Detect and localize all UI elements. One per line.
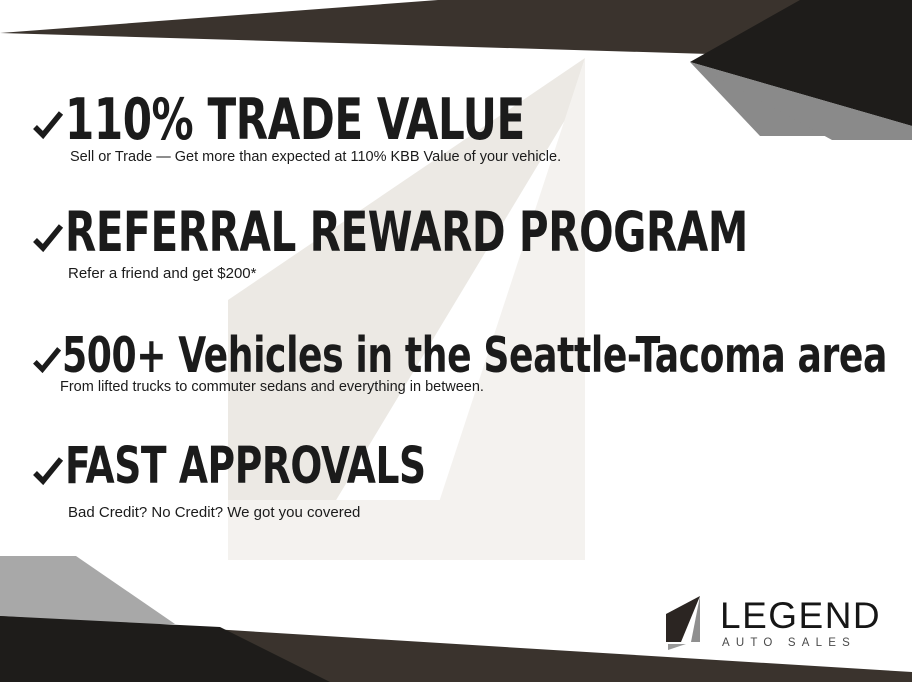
feature-headline-row: REFERRAL REWARD PROGRAM — [0, 207, 912, 258]
feature-headline: 500+ Vehicles in the Seattle-Tacoma area — [62, 333, 887, 378]
feature-headline-row: FAST APPROVALS — [0, 444, 912, 491]
legend-chevron-mark-icon — [664, 594, 710, 650]
logo-name: LEGEND — [720, 597, 881, 634]
check-icon — [33, 223, 63, 253]
feature-subline: Refer a friend and get $200* — [68, 266, 912, 283]
feature-headline-row: 500+ Vehicles in the Seattle-Tacoma area — [0, 333, 912, 378]
feature-headline-row: 110% TRADE VALUE — [0, 94, 912, 146]
check-icon — [33, 110, 63, 140]
feature-item: FAST APPROVALS Bad Credit? No Credit? We… — [0, 444, 912, 521]
logo-tagline: AUTO SALES — [722, 638, 881, 650]
feature-subline: Bad Credit? No Credit? We got you covere… — [68, 505, 912, 522]
logo-wordmark: LEGEND AUTO SALES — [720, 594, 881, 650]
feature-item: 110% TRADE VALUE Sell or Trade — Get mor… — [0, 94, 912, 166]
legend-auto-sales-logo: LEGEND AUTO SALES — [664, 594, 881, 650]
feature-headline: 110% TRADE VALUE — [65, 94, 525, 146]
feature-headline: FAST APPROVALS — [65, 444, 426, 491]
feature-headline: REFERRAL REWARD PROGRAM — [65, 207, 748, 258]
promo-banner: 110% TRADE VALUE Sell or Trade — Get mor… — [0, 0, 912, 682]
check-icon — [33, 346, 61, 374]
feature-item: REFERRAL REWARD PROGRAM Refer a friend a… — [0, 207, 912, 282]
feature-item: 500+ Vehicles in the Seattle-Tacoma area… — [0, 333, 912, 396]
check-icon — [33, 456, 63, 486]
banner-content: 110% TRADE VALUE Sell or Trade — Get mor… — [0, 0, 912, 682]
